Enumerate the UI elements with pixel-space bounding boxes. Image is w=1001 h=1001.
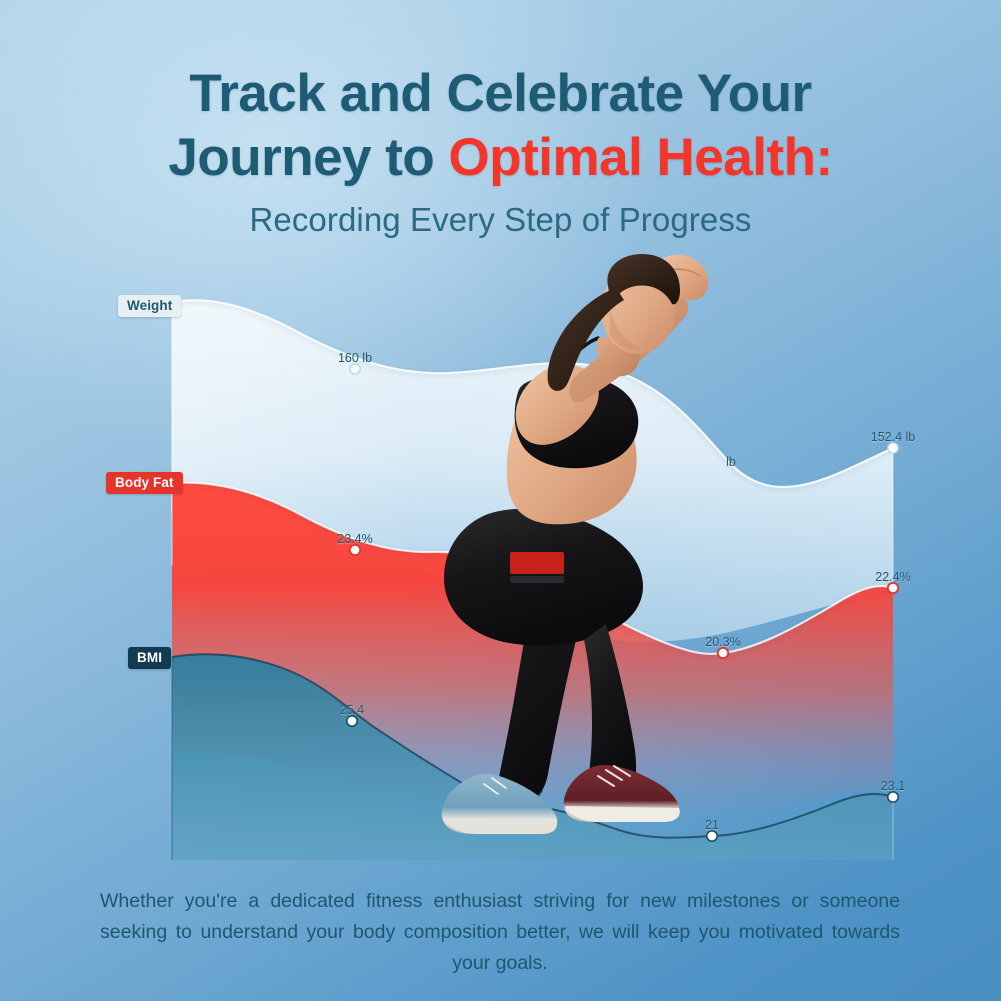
- point-label-bodyfat-203: 20.3%: [705, 635, 740, 649]
- point-label-bmi-231: 23.1: [881, 779, 905, 793]
- page-subtitle: Recording Every Step of Progress: [0, 200, 1001, 240]
- data-point-bmi-227[interactable]: [525, 802, 535, 812]
- headline-line-2-prefix: Journey to: [168, 128, 448, 187]
- series-badge-bmi[interactable]: BMI: [128, 647, 171, 669]
- body-composition-chart: Weight Body Fat BMI 160 lb lb 152.4 lb 2…: [0, 265, 1001, 860]
- data-point-bmi-21[interactable]: [707, 831, 717, 841]
- data-point-bmi-231[interactable]: [888, 792, 898, 802]
- point-label-weight-160: 160 lb: [338, 351, 372, 365]
- page-title: Track and Celebrate Your Journey to Opti…: [0, 62, 1001, 190]
- point-label-weight-mid: lb: [726, 455, 736, 469]
- data-point-weight-160[interactable]: [350, 364, 360, 374]
- point-label-bodyfat-224: 22.4%: [875, 570, 910, 584]
- chart-svg: [0, 265, 1001, 860]
- data-point-bodyfat-234[interactable]: [350, 545, 360, 555]
- data-point-bodyfat-203[interactable]: [718, 648, 728, 658]
- point-label-weight-152: 152.4 lb: [871, 430, 915, 444]
- data-point-bodyfat-224[interactable]: [888, 583, 898, 593]
- health-tracking-poster: Track and Celebrate Your Journey to Opti…: [0, 0, 1001, 1001]
- point-label-bmi-227: 22.7: [519, 789, 543, 803]
- point-label-bmi-254: 25.4: [340, 703, 364, 717]
- data-point-bmi-254[interactable]: [347, 716, 357, 726]
- headline-accent-text: Optimal Health:: [449, 128, 833, 187]
- description-paragraph: Whether you're a dedicated fitness enthu…: [100, 886, 900, 979]
- point-label-bmi-21: 21: [705, 818, 719, 832]
- headline-block: Track and Celebrate Your Journey to Opti…: [0, 62, 1001, 240]
- series-badge-weight[interactable]: Weight: [118, 295, 181, 317]
- series-badge-bodyfat[interactable]: Body Fat: [106, 472, 183, 494]
- data-point-weight-152[interactable]: [888, 443, 898, 453]
- point-label-bodyfat-234: 23.4%: [337, 532, 372, 546]
- headline-line-2: Journey to Optimal Health:: [0, 126, 1001, 190]
- headline-line-1: Track and Celebrate Your: [0, 62, 1001, 126]
